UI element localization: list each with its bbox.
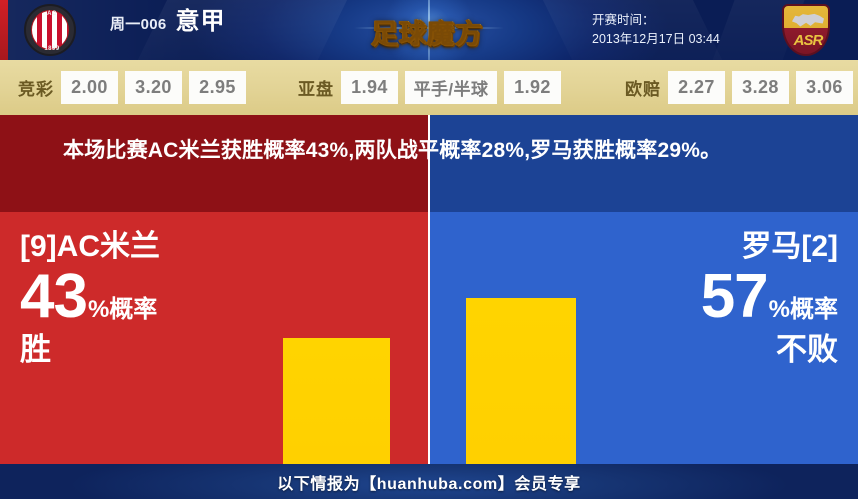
brand-logo-text: 足球魔方 — [347, 12, 507, 51]
header-bar: AC 1899 周一006 意甲 足球魔方 开赛时间： 2013年12月17日 … — [0, 0, 858, 60]
odds-cell-euro-draw[interactable]: 3.28 — [732, 71, 789, 104]
home-outcome-label: 胜 — [20, 332, 270, 368]
odds-group-jingcai: 竞彩 2.00 3.20 2.95 — [18, 71, 246, 104]
odds-cell-home-handicap[interactable]: 1.94 — [341, 71, 398, 104]
odds-group-yapan: 亚盘 1.94 平手/半球 1.92 — [298, 71, 561, 104]
home-probability-bar — [283, 338, 390, 464]
odds-cell-away-win[interactable]: 2.95 — [189, 71, 246, 104]
probability-chart: [9]AC米兰 43 %概率 胜 罗马[2] 57 %概率 不败 — [0, 212, 858, 464]
home-team-block: [9]AC米兰 43 %概率 胜 — [20, 230, 270, 368]
kickoff-time: 开赛时间： 2013年12月17日 03:44 — [592, 11, 767, 49]
away-outcome-label: 不败 — [578, 332, 838, 368]
crest-shield-shape: ASR — [782, 4, 830, 56]
away-probability-bar — [466, 298, 576, 464]
footer-text: 以下情报为【huanhuba.com】会员专享 — [277, 470, 581, 494]
odds-cell-euro-away[interactable]: 3.06 — [796, 71, 853, 104]
crest-shield-shape: AC 1899 — [24, 4, 76, 56]
summary-band: 本场比赛AC米兰获胜概率43%,两队战平概率28%,罗马获胜概率29%。 — [0, 115, 858, 212]
odds-cell-home-win[interactable]: 2.00 — [61, 71, 118, 104]
odds-strip: 竞彩 2.00 3.20 2.95 亚盘 1.94 平手/半球 1.92 欧赔 … — [0, 60, 858, 115]
odds-group-label: 亚盘 — [298, 75, 334, 100]
crest-year-text: 1899 — [26, 46, 76, 52]
league-label: 意甲 — [176, 10, 226, 34]
home-team-name: [9]AC米兰 — [20, 230, 270, 264]
panel-divider — [428, 212, 430, 464]
away-probability-line: 57 %概率 — [578, 266, 838, 328]
odds-cell-away-handicap[interactable]: 1.92 — [504, 71, 561, 104]
away-team-block: 罗马[2] 57 %概率 不败 — [578, 230, 838, 368]
crest-monogram-text: ASR — [784, 32, 830, 49]
away-team-crest-icon: ASR — [782, 4, 830, 56]
odds-group-label: 竞彩 — [18, 75, 54, 100]
wolf-icon — [792, 13, 824, 27]
home-team-crest-icon: AC 1899 — [24, 4, 76, 56]
brand-logo: 足球魔方 — [347, 0, 507, 60]
summary-text: 本场比赛AC米兰获胜概率43%,两队战平概率28%,罗马获胜概率29%。 — [63, 134, 793, 167]
crest-top-text: AC — [26, 11, 76, 17]
header-accent-stripe — [0, 0, 8, 60]
match-meta: 周一006 意甲 — [110, 10, 226, 34]
footer-bar: 以下情报为【huanhuba.com】会员专享 — [0, 464, 858, 499]
odds-cell-euro-home[interactable]: 2.27 — [668, 71, 725, 104]
odds-group-label: 欧赔 — [625, 75, 661, 100]
away-probability-unit: %概率 — [769, 298, 838, 322]
home-probability-unit: %概率 — [88, 298, 157, 322]
odds-cell-draw[interactable]: 3.20 — [125, 71, 182, 104]
odds-group-oupei: 欧赔 2.27 3.28 3.06 — [625, 71, 853, 104]
away-probability-value: 57 — [701, 266, 768, 328]
away-team-name: 罗马[2] — [578, 230, 838, 264]
odds-cell-handicap-line[interactable]: 平手/半球 — [405, 71, 497, 104]
home-probability-value: 43 — [20, 266, 87, 328]
kickoff-value: 2013年12月17日 03:44 — [592, 30, 767, 49]
home-probability-line: 43 %概率 — [20, 266, 270, 328]
kickoff-title: 开赛时间： — [592, 11, 767, 30]
infographic-root: AC 1899 周一006 意甲 足球魔方 开赛时间： 2013年12月17日 … — [0, 0, 858, 499]
round-label: 周一006 — [110, 13, 167, 34]
